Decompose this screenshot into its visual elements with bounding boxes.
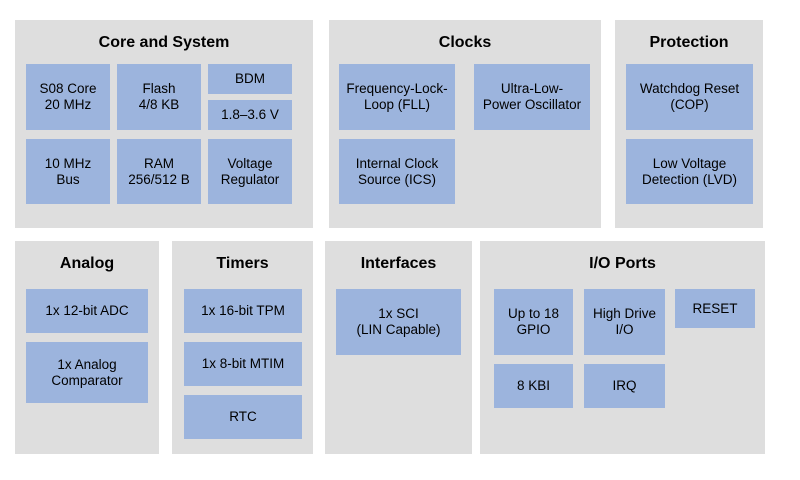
block-lvd-line1: Low Voltage [642,156,737,172]
block-bus-10mhz-line2: Bus [45,172,92,188]
block-ics: Internal Clock Source (ICS) [339,139,455,204]
block-high-drive-io-line2: I/O [593,322,656,338]
block-s08-core-line1: S08 Core [39,81,96,97]
panel-clocks: Clocks Frequency-Lock- Loop (FLL) Ultra-… [329,20,601,228]
block-analog-comparator: 1x Analog Comparator [26,342,148,403]
block-bus-10mhz: 10 MHz Bus [26,139,110,204]
block-gpio-line1: Up to 18 [508,306,559,322]
block-ics-line2: Source (ICS) [356,172,439,188]
block-lvd: Low Voltage Detection (LVD) [626,139,753,204]
panel-title-io-ports: I/O Ports [480,255,765,273]
block-irq: IRQ [584,364,665,408]
block-ics-line1: Internal Clock [356,156,439,172]
block-mtim: 1x 8-bit MTIM [184,342,302,386]
block-reset-line1: RESET [692,301,737,317]
panel-title-protection: Protection [615,34,763,52]
block-analog-comparator-line2: Comparator [51,373,122,389]
block-bdm: BDM [208,64,292,94]
block-tpm: 1x 16-bit TPM [184,289,302,333]
block-sci-line1: 1x SCI [356,306,440,322]
block-s08-core-line2: 20 MHz [39,97,96,113]
block-watchdog-cop-line1: Watchdog Reset [640,81,739,97]
block-ulp-oscillator-line1: Ultra-Low- [483,81,581,97]
block-voltage-range: 1.8–3.6 V [208,100,292,130]
block-kbi: 8 KBI [494,364,573,408]
block-fll-line2: Loop (FLL) [346,97,447,113]
block-flash-line2: 4/8 KB [139,97,180,113]
block-ram: RAM 256/512 B [117,139,201,204]
panel-io-ports: I/O Ports Up to 18 GPIO High Drive I/O R… [480,241,765,454]
block-mtim-line1: 1x 8-bit MTIM [202,356,285,372]
block-gpio-line2: GPIO [508,322,559,338]
block-sci-line2: (LIN Capable) [356,322,440,338]
block-ulp-oscillator: Ultra-Low- Power Oscillator [474,64,590,130]
block-kbi-line1: 8 KBI [517,378,550,394]
panel-timers: Timers 1x 16-bit TPM 1x 8-bit MTIM RTC [172,241,313,454]
block-bdm-line1: BDM [235,71,265,87]
block-voltage-regulator-line2: Regulator [221,172,280,188]
block-reset: RESET [675,289,755,328]
block-fll: Frequency-Lock- Loop (FLL) [339,64,455,130]
block-voltage-regulator: Voltage Regulator [208,139,292,204]
block-diagram: Core and System S08 Core 20 MHz Flash 4/… [0,0,800,480]
panel-title-analog: Analog [15,255,159,273]
block-bus-10mhz-line1: 10 MHz [45,156,92,172]
block-sci: 1x SCI (LIN Capable) [336,289,461,355]
block-analog-comparator-line1: 1x Analog [51,357,122,373]
block-flash-line1: Flash [139,81,180,97]
panel-title-clocks: Clocks [329,34,601,52]
block-high-drive-io-line1: High Drive [593,306,656,322]
block-rtc: RTC [184,395,302,439]
block-voltage-range-line1: 1.8–3.6 V [221,107,279,123]
block-high-drive-io: High Drive I/O [584,289,665,355]
block-gpio: Up to 18 GPIO [494,289,573,355]
block-watchdog-cop-line2: (COP) [640,97,739,113]
panel-interfaces: Interfaces 1x SCI (LIN Capable) [325,241,472,454]
block-s08-core: S08 Core 20 MHz [26,64,110,130]
panel-protection: Protection Watchdog Reset (COP) Low Volt… [615,20,763,228]
block-irq-line1: IRQ [612,378,636,394]
block-ulp-oscillator-line2: Power Oscillator [483,97,581,113]
block-voltage-regulator-line1: Voltage [221,156,280,172]
panel-core-and-system: Core and System S08 Core 20 MHz Flash 4/… [15,20,313,228]
block-fll-line1: Frequency-Lock- [346,81,447,97]
block-adc: 1x 12-bit ADC [26,289,148,333]
panel-title-timers: Timers [172,255,313,273]
block-watchdog-cop: Watchdog Reset (COP) [626,64,753,130]
panel-title-interfaces: Interfaces [325,255,472,273]
block-adc-line1: 1x 12-bit ADC [45,303,128,319]
block-tpm-line1: 1x 16-bit TPM [201,303,285,319]
panel-analog: Analog 1x 12-bit ADC 1x Analog Comparato… [15,241,159,454]
block-flash: Flash 4/8 KB [117,64,201,130]
panel-title-core-and-system: Core and System [15,34,313,52]
block-ram-line1: RAM [128,156,190,172]
block-ram-line2: 256/512 B [128,172,190,188]
block-lvd-line2: Detection (LVD) [642,172,737,188]
block-rtc-line1: RTC [229,409,257,425]
